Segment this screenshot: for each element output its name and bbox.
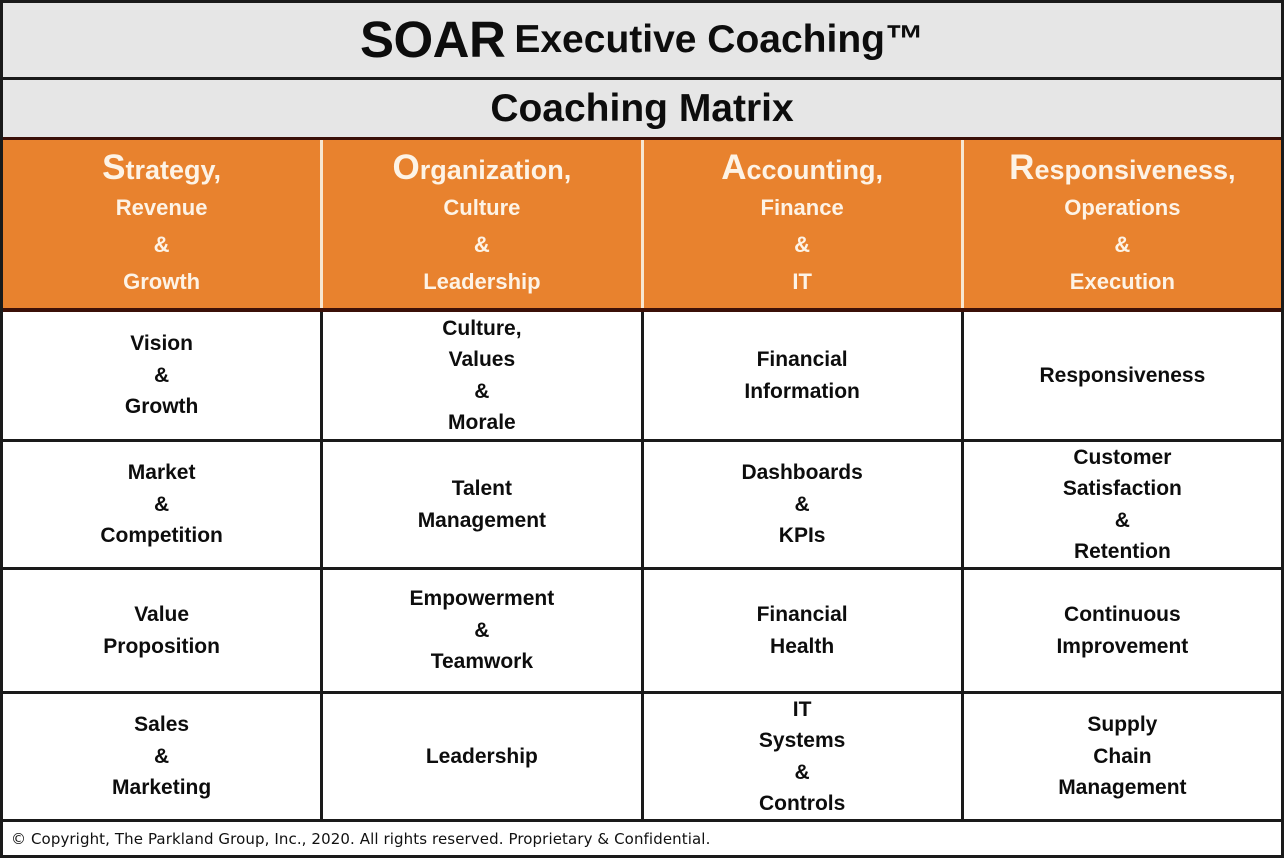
matrix-header-cell-responsiveness: Responsiveness,Operations&Execution — [964, 140, 1281, 308]
cell-line: Retention — [1074, 536, 1171, 568]
cell-line: Systems — [759, 725, 845, 757]
matrix-cell-accounting-3: ITSystems&Controls — [644, 694, 964, 819]
header-title-organization: Organization, — [393, 146, 572, 190]
header-line: Revenue — [116, 190, 208, 227]
cell-line: IT — [793, 694, 812, 726]
header-line: Execution — [1070, 264, 1175, 301]
matrix-row: Sales&MarketingLeadershipITSystems&Contr… — [3, 694, 1281, 822]
header-title-rest-accounting: ccounting, — [747, 155, 884, 185]
matrix-cell-responsiveness-0: Responsiveness — [964, 312, 1281, 439]
cell-line: Proposition — [103, 631, 220, 663]
page-subtitle: Coaching Matrix — [3, 80, 1281, 141]
header-dropcap-accounting: A — [721, 148, 746, 187]
header-line: Finance — [761, 190, 844, 227]
cell-line: Vision — [130, 328, 193, 360]
cell-line: Teamwork — [431, 646, 533, 678]
cell-line: Morale — [448, 407, 516, 439]
header-title-strategy: Strategy, — [102, 146, 221, 190]
header-line: & — [1114, 227, 1130, 264]
matrix-row: ValuePropositionEmpowerment&TeamworkFina… — [3, 570, 1281, 694]
cell-line: & — [474, 615, 489, 647]
copyright-text: © Copyright, The Parkland Group, Inc., 2… — [11, 830, 710, 848]
cell-line: Values — [449, 344, 516, 376]
coaching-matrix: SOAR Executive Coaching™ Coaching Matrix… — [0, 0, 1284, 858]
header-dropcap-organization: O — [393, 148, 420, 187]
cell-line: & — [154, 741, 169, 773]
header-title-accounting: Accounting, — [721, 146, 883, 190]
cell-line: & — [795, 757, 810, 789]
cell-line: Health — [770, 631, 834, 663]
cell-line: Competition — [100, 520, 222, 552]
cell-line: Market — [128, 457, 196, 489]
matrix-cell-accounting-0: FinancialInformation — [644, 312, 964, 439]
subtitle-label: Coaching Matrix — [490, 89, 793, 128]
cell-line: Customer — [1073, 442, 1171, 474]
header-line: & — [794, 227, 810, 264]
title-subtext: Executive Coaching™ — [514, 20, 924, 59]
cell-line: Financial — [757, 599, 848, 631]
matrix-cell-strategy-2: ValueProposition — [3, 570, 323, 691]
cell-line: Information — [744, 376, 860, 408]
cell-line: Satisfaction — [1063, 473, 1182, 505]
header-line: Leadership — [423, 264, 540, 301]
matrix-row: Market&CompetitionTalentManagementDashbo… — [3, 442, 1281, 570]
cell-line: & — [1115, 505, 1130, 537]
matrix-cell-accounting-1: Dashboards&KPIs — [644, 442, 964, 567]
cell-line: Value — [134, 599, 189, 631]
footer: © Copyright, The Parkland Group, Inc., 2… — [3, 822, 1281, 855]
cell-line: Chain — [1093, 741, 1151, 773]
header-title-rest-responsiveness: esponsiveness, — [1034, 155, 1235, 185]
cell-line: Talent — [452, 473, 512, 505]
header-title-responsiveness: Responsiveness, — [1009, 146, 1235, 190]
matrix-cell-responsiveness-2: ContinuousImprovement — [964, 570, 1281, 691]
cell-line: KPIs — [779, 520, 826, 552]
cell-line: & — [154, 489, 169, 521]
matrix-cell-strategy-0: Vision&Growth — [3, 312, 323, 439]
cell-line: Financial — [757, 344, 848, 376]
matrix-header-cell-organization: Organization,Culture&Leadership — [323, 140, 643, 308]
cell-line: Continuous — [1064, 599, 1181, 631]
matrix-row: Vision&GrowthCulture,Values&MoraleFinanc… — [3, 312, 1281, 442]
cell-line: Growth — [125, 391, 199, 423]
matrix-cell-accounting-2: FinancialHealth — [644, 570, 964, 691]
cell-line: Responsiveness — [1040, 360, 1206, 392]
cell-line: Improvement — [1056, 631, 1188, 663]
header-line: Culture — [443, 190, 520, 227]
matrix-cell-organization-0: Culture,Values&Morale — [323, 312, 643, 439]
matrix-header-cell-strategy: Strategy,Revenue&Growth — [3, 140, 323, 308]
matrix-cell-strategy-1: Market&Competition — [3, 442, 323, 567]
matrix-cell-organization-3: Leadership — [323, 694, 643, 819]
matrix-body: Vision&GrowthCulture,Values&MoraleFinanc… — [3, 312, 1281, 822]
cell-line: Leadership — [426, 741, 538, 773]
header-title-rest-strategy: trategy, — [126, 155, 222, 185]
header-title-rest-organization: rganization, — [420, 155, 572, 185]
matrix-header-row: Strategy,Revenue&GrowthOrganization,Cult… — [3, 140, 1281, 312]
matrix-cell-strategy-3: Sales&Marketing — [3, 694, 323, 819]
header-line: & — [474, 227, 490, 264]
matrix-cell-organization-1: TalentManagement — [323, 442, 643, 567]
matrix-header-cell-accounting: Accounting,Finance&IT — [644, 140, 964, 308]
cell-line: Management — [418, 505, 546, 537]
cell-line: & — [474, 376, 489, 408]
cell-line: & — [154, 360, 169, 392]
cell-line: Sales — [134, 709, 189, 741]
header-dropcap-strategy: S — [102, 148, 125, 187]
page-title: SOAR Executive Coaching™ — [3, 3, 1281, 80]
matrix-cell-responsiveness-1: CustomerSatisfaction&Retention — [964, 442, 1281, 567]
cell-line: & — [795, 489, 810, 521]
header-line: Growth — [123, 264, 200, 301]
header-dropcap-responsiveness: R — [1009, 148, 1034, 187]
cell-line: Dashboards — [741, 457, 862, 489]
header-line: Operations — [1064, 190, 1180, 227]
cell-line: Marketing — [112, 772, 211, 804]
cell-line: Management — [1058, 772, 1186, 804]
header-line: IT — [792, 264, 812, 301]
matrix-cell-organization-2: Empowerment&Teamwork — [323, 570, 643, 691]
matrix-cell-responsiveness-3: SupplyChainManagement — [964, 694, 1281, 819]
cell-line: Controls — [759, 788, 845, 820]
cell-line: Empowerment — [410, 583, 555, 615]
title-acronym: SOAR — [360, 14, 505, 65]
header-line: & — [154, 227, 170, 264]
cell-line: Culture, — [442, 313, 521, 345]
cell-line: Supply — [1087, 709, 1157, 741]
